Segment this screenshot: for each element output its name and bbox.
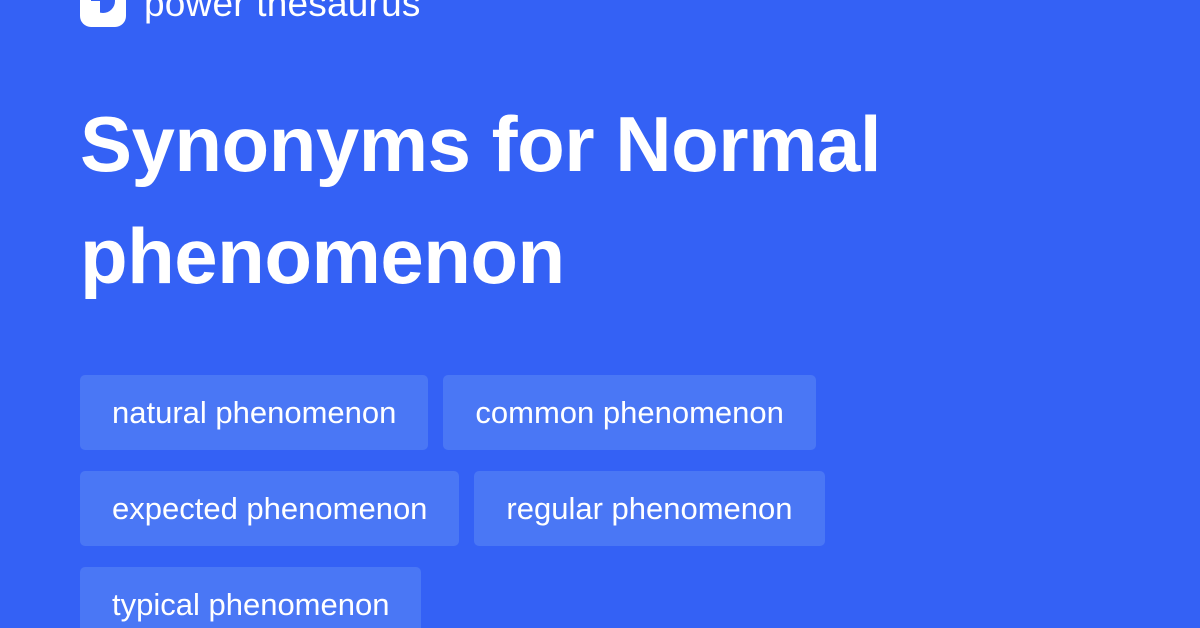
synonym-tag[interactable]: natural phenomenon (80, 375, 428, 450)
page-title-line-2: phenomenon (80, 212, 565, 300)
share-card: power thesaurus Synonyms for Normal phen… (0, 0, 1200, 628)
brand-logo[interactable]: power thesaurus (80, 0, 421, 30)
page-title-line-1: Synonyms for Normal (80, 100, 881, 188)
brand-name: power thesaurus (144, 0, 421, 27)
synonym-tag[interactable]: common phenomenon (443, 375, 815, 450)
page-title: Synonyms for Normal phenomenon (80, 88, 1120, 312)
synonym-tag-row: natural phenomenon common phenomenon (80, 375, 1140, 450)
synonym-tag-list: natural phenomenon common phenomenon exp… (80, 375, 1140, 628)
synonym-tag[interactable]: typical phenomenon (80, 567, 421, 628)
synonym-tag-row: typical phenomenon (80, 567, 1140, 628)
synonym-tag-row: expected phenomenon regular phenomenon (80, 471, 1140, 546)
synonym-tag[interactable]: regular phenomenon (474, 471, 824, 546)
synonym-tag[interactable]: expected phenomenon (80, 471, 459, 546)
power-thesaurus-p-logo-icon (80, 0, 126, 27)
